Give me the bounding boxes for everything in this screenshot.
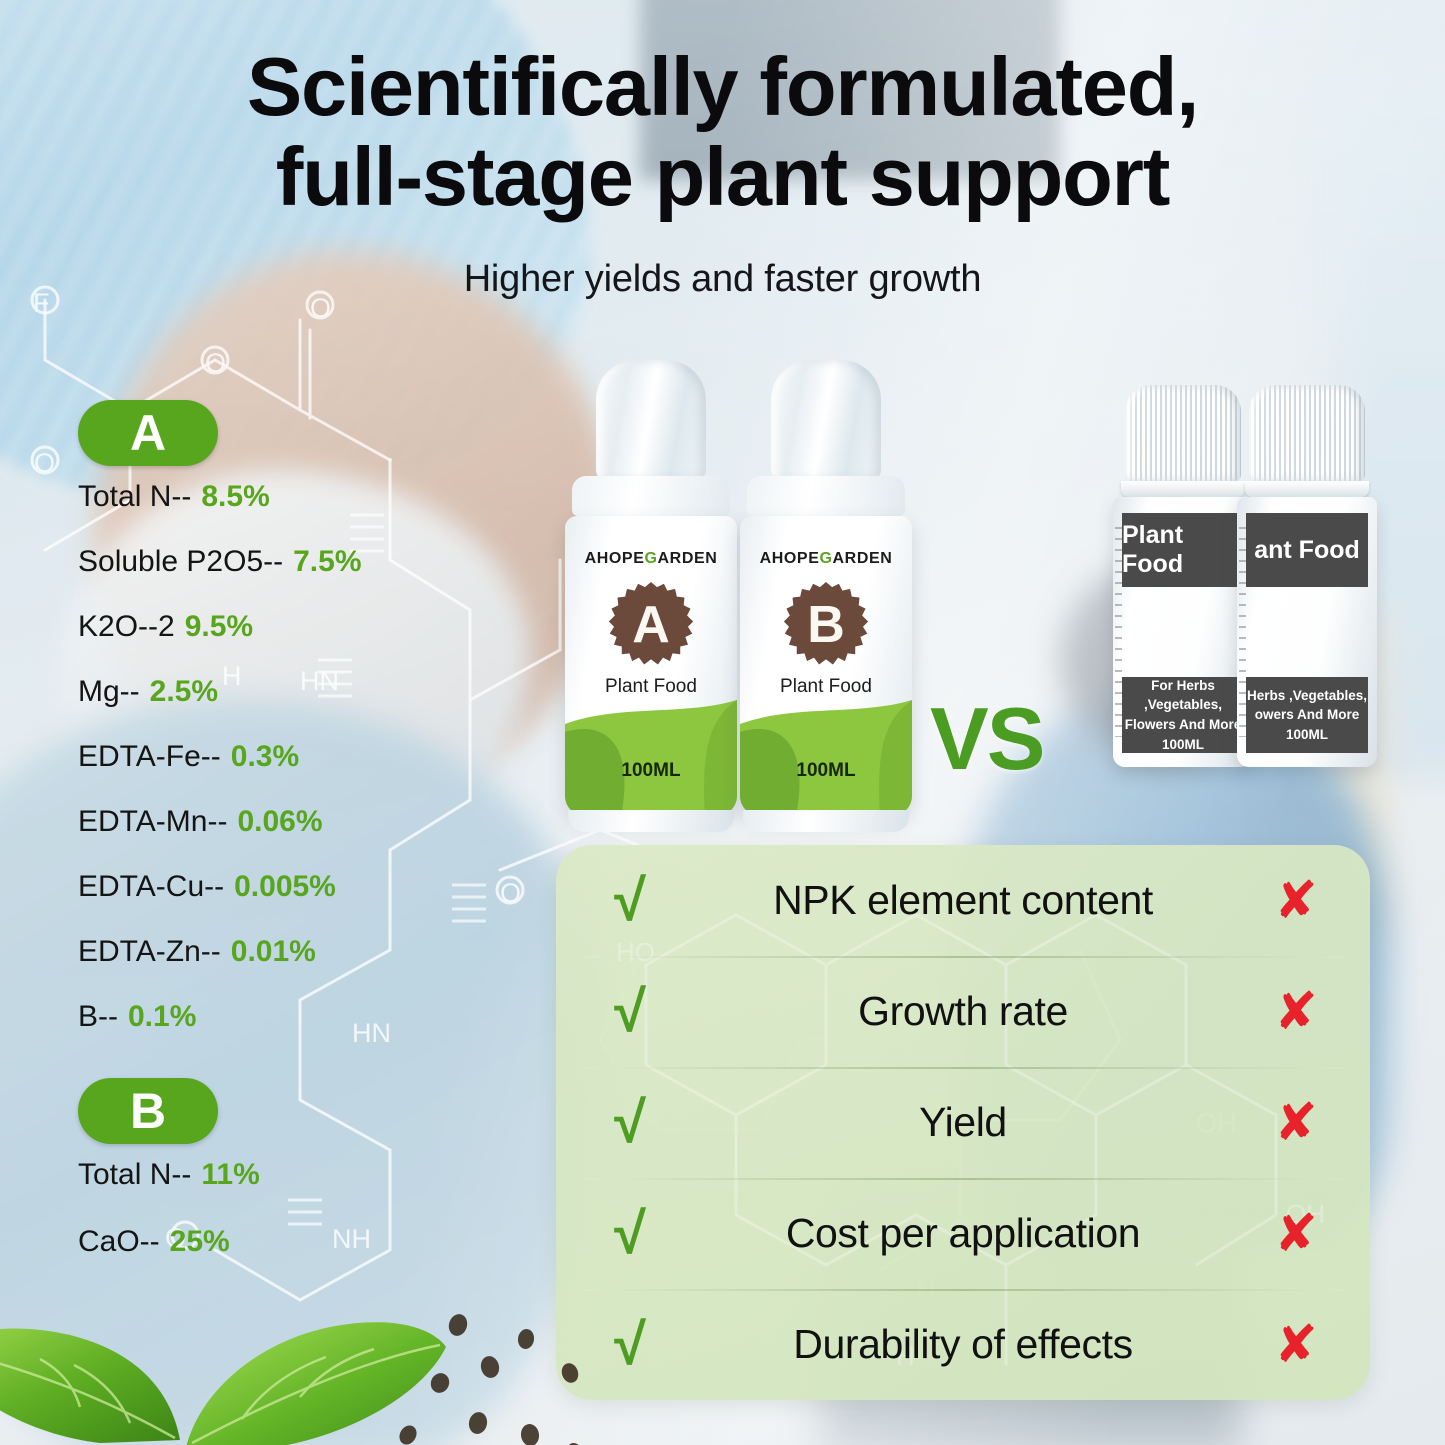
competitor-uses-line-2: owers And More [1255,705,1360,725]
comparison-row-label: Durability of effects [658,1321,1268,1368]
competitor-bottle-label: ant Food Herbs ,Vegetables, owers And Mo… [1237,497,1377,767]
formula-a-list: Total N--8.5%Soluble P2O5--7.5%K2O--29.5… [78,480,538,1034]
nutrient-value: 2.5% [150,675,218,709]
check-icon: √ [602,983,658,1041]
nutrient-value: 0.01% [231,935,316,969]
nutrient-name: EDTA-Zn-- [78,935,221,969]
nutrient-name: Total N-- [78,480,191,514]
cross-icon: ✘ [1268,1208,1324,1260]
cross-icon: ✘ [1268,875,1324,927]
brand-post: ARDEN [658,550,718,567]
product-bottle-b: AHOPEGARDEN B Plant Food 100ML [740,360,912,832]
bottle-label: AHOPEGARDEN B Plant Food 100ML [740,516,912,816]
brand-post: ARDEN [833,550,893,567]
cross-icon: ✘ [1268,986,1324,1038]
bottle-cap [771,360,881,480]
competitor-bottle-cap [1249,385,1365,481]
comparison-row: √NPK element content✘ [556,845,1370,956]
brand-logo: AHOPEGARDEN [565,550,737,568]
headline-line-1: Scientifically formulated, [247,40,1198,133]
comparison-panel: HO OH H √NPK element content✘√Growth rat… [556,845,1370,1400]
nutrient-value: 0.1% [128,1000,196,1034]
nutrient-row: B--0.1% [78,1000,538,1034]
competitor-uses-line-1: For Herbs ,Vegetables, [1122,676,1244,715]
comparison-row-label: Growth rate [658,988,1268,1035]
competitor-bottle-label: Plant Food For Herbs ,Vegetables, Flower… [1113,497,1253,767]
nutrient-row: EDTA-Zn--0.01% [78,935,538,969]
bottle-cap [596,360,706,480]
bottle-base [743,810,909,832]
nutrient-row: EDTA-Cu--0.005% [78,870,538,904]
nutrient-row: Total N--8.5% [78,480,538,514]
nutrient-name: K2O--2 [78,610,175,644]
nutrient-value: 8.5% [201,480,269,514]
product-type-label: Plant Food [740,676,912,698]
competitor-uses-block: Herbs ,Vegetables, owers And More 100ML [1246,677,1368,753]
nutrient-value: 9.5% [185,610,253,644]
brand-pre: AHOPE [585,550,645,567]
comparison-rows: √NPK element content✘√Growth rate✘√Yield… [556,845,1370,1400]
measurement-scale-icon [1115,527,1122,737]
nutrient-name: EDTA-Mn-- [78,805,227,839]
check-icon: √ [602,1205,658,1263]
brand-pre: AHOPE [760,550,820,567]
check-icon: √ [602,1316,658,1374]
formula-a-badge: A [78,400,218,466]
check-icon: √ [602,872,658,930]
competitor-volume: 100ML [1162,735,1204,755]
nutrient-row: Mg--2.5% [78,675,538,709]
nutrient-name: B-- [78,1000,118,1034]
bottle-green-wave [740,698,912,816]
page-subtitle: Higher yields and faster growth [0,258,1445,301]
comparison-row-label: NPK element content [658,877,1268,924]
comparison-row: √Growth rate✘ [556,956,1370,1067]
product-type-label: Plant Food [565,676,737,698]
product-bottle-a: AHOPEGARDEN A Plant Food 100ML [565,360,737,832]
bottle-volume: 100ML [740,760,912,782]
formula-b-badge-label: B [130,1082,166,1140]
nutrient-name: Mg-- [78,675,140,709]
comparison-row: √Cost per application✘ [556,1178,1370,1289]
nutrient-value: 0.3% [231,740,299,774]
nutrient-row: K2O--29.5% [78,610,538,644]
nutrient-row: EDTA-Mn--0.06% [78,805,538,839]
measurement-scale-icon [1239,527,1246,737]
nutrient-row: EDTA-Fe--0.3% [78,740,538,774]
brand-logo: AHOPEGARDEN [740,550,912,568]
bottle-label: AHOPEGARDEN A Plant Food 100ML [565,516,737,816]
comparison-row: √Durability of effects✘ [556,1289,1370,1400]
comparison-row-label: Yield [658,1099,1268,1146]
comparison-row: √Yield✘ [556,1067,1370,1178]
competitor-bottle-ring [1245,481,1369,497]
nutrient-value: 7.5% [293,545,361,579]
page-headline: Scientifically formulated, full-stage pl… [0,42,1445,221]
bottle-volume: 100ML [565,760,737,782]
competitor-bottle-1: Plant Food For Herbs ,Vegetables, Flower… [1113,385,1253,767]
cross-icon: ✘ [1268,1097,1324,1149]
nutrient-row: Soluble P2O5--7.5% [78,545,538,579]
check-icon: √ [602,1094,658,1152]
nutrient-value: 0.005% [234,870,336,904]
bottle-base [568,810,734,832]
basil-leaves-graphic [0,1135,590,1445]
competitor-bottle-2: ant Food Herbs ,Vegetables, owers And Mo… [1237,385,1377,767]
infographic-page: F O O O HN H NH HN O O HO OH H Scientifi… [0,0,1445,1445]
competitor-bottle-ring [1121,481,1245,497]
competitor-title: ant Food [1246,513,1368,587]
headline-line-2: full-stage plant support [0,132,1445,222]
formula-seal-badge: B [783,582,869,668]
bottle-shoulder [572,476,730,516]
nutrient-value: 0.06% [237,805,322,839]
formula-a-badge-label: A [130,404,166,462]
formula-seal-label: A [632,595,670,655]
cross-icon: ✘ [1268,1319,1324,1371]
nutrient-name: Soluble P2O5-- [78,545,283,579]
brand-leaf-icon: G [819,550,832,567]
bottle-shoulder [747,476,905,516]
formula-seal-badge: A [608,582,694,668]
competitor-uses-line-1: Herbs ,Vegetables, [1247,686,1367,706]
nutrient-name: EDTA-Fe-- [78,740,221,774]
competitor-uses-block: For Herbs ,Vegetables, Flowers And More … [1122,677,1244,753]
nutrient-name: EDTA-Cu-- [78,870,224,904]
bottle-green-wave [565,698,737,816]
competitor-uses-line-2: Flowers And More [1125,715,1242,735]
competitor-volume: 100ML [1286,725,1328,745]
competitor-bottle-cap [1125,385,1241,481]
comparison-row-label: Cost per application [658,1210,1268,1257]
brand-leaf-icon: G [644,550,657,567]
vs-label: VS [930,688,1043,790]
formula-seal-label: B [807,595,845,655]
competitor-title: Plant Food [1122,513,1244,587]
